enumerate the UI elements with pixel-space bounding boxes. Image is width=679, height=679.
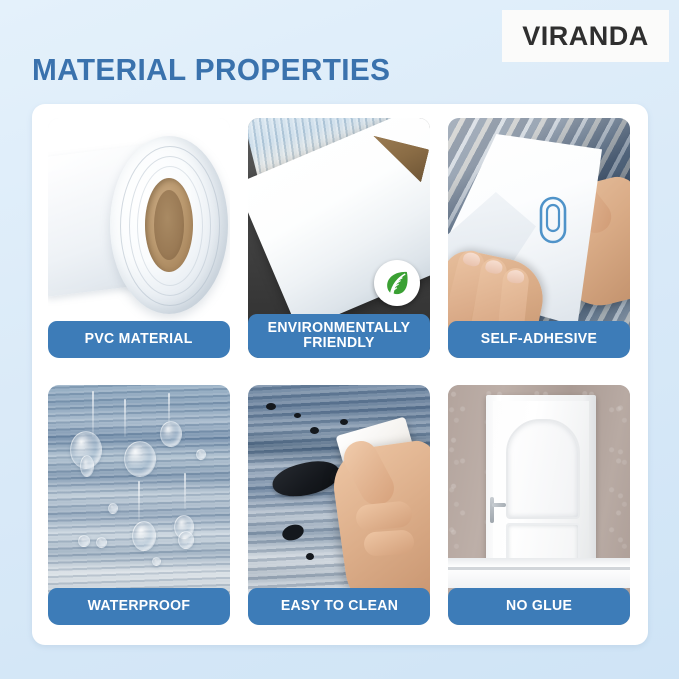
brand-name: VIRANDA — [522, 21, 649, 52]
feature-label-no-glue: NO GLUE — [448, 588, 630, 625]
feature-tile-easy-to-clean[interactable]: EASY TO CLEAN — [248, 385, 430, 625]
paperclip-icon — [536, 194, 570, 246]
page-title: MATERIAL PROPERTIES — [32, 52, 390, 88]
vinyl-roll-illustration — [48, 132, 230, 322]
feature-tile-no-glue[interactable]: NO GLUE — [448, 385, 630, 625]
skirting-board — [448, 558, 630, 588]
feature-label-pvc-material: PVC MATERIAL — [48, 321, 230, 358]
feature-tile-waterproof[interactable]: WATERPROOF — [48, 385, 230, 625]
feature-label-text: PVC MATERIAL — [81, 332, 197, 347]
eco-badge — [374, 260, 420, 306]
brand-logo: VIRANDA — [502, 10, 669, 62]
feature-tile-environmentally-friendly[interactable]: ENVIRONMENTALLY FRIENDLY — [248, 118, 430, 358]
feature-label-self-adhesive: SELF-ADHESIVE — [448, 321, 630, 358]
feature-label-text: ENVIRONMENTALLY FRIENDLY — [251, 321, 428, 351]
feature-label-text: SELF-ADHESIVE — [477, 332, 601, 347]
feature-label-text: WATERPROOF — [84, 599, 194, 614]
feature-tile-pvc-material[interactable]: PVC MATERIAL — [48, 118, 230, 358]
feature-tile-self-adhesive[interactable]: SELF-ADHESIVE — [448, 118, 630, 358]
feature-label-text: NO GLUE — [502, 599, 576, 614]
feature-label-text: EASY TO CLEAN — [276, 599, 401, 614]
door-handle — [490, 497, 494, 523]
leaf-icon — [382, 268, 412, 298]
feature-grid: PVC MATERIAL — [48, 118, 630, 630]
feature-label-waterproof: WATERPROOF — [48, 588, 230, 625]
feature-label-environmentally-friendly: ENVIRONMENTALLY FRIENDLY — [248, 314, 430, 358]
feature-label-easy-to-clean: EASY TO CLEAN — [248, 588, 430, 625]
infographic-canvas: VIRANDA MATERIAL PROPERTIES — [0, 0, 679, 679]
door-upper-panel — [506, 419, 580, 519]
